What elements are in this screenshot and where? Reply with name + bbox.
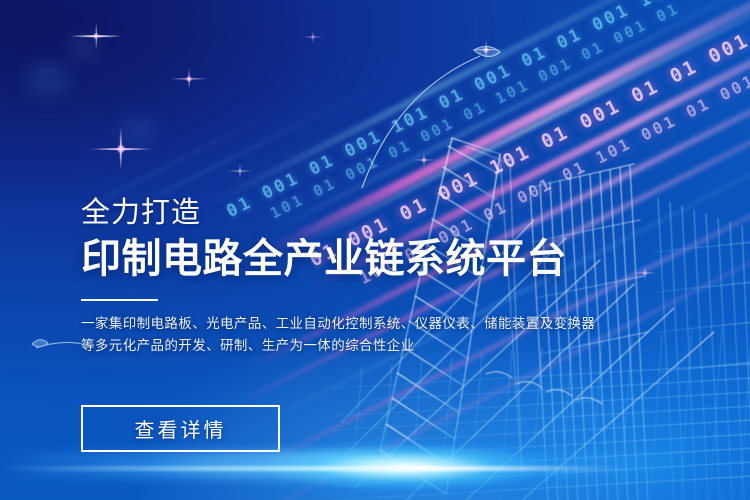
hero-eyebrow: 全力打造 — [81, 196, 601, 230]
hero-description-line-2: 等多元化产品的开发、研制、生产为一体的综合性企业 — [81, 335, 551, 357]
star-icon — [86, 114, 156, 184]
star-icon — [225, 156, 255, 186]
star-icon — [68, 8, 124, 64]
haze-blob — [68, 38, 98, 60]
star-icon — [466, 30, 506, 70]
hero-description: 一家集印制电路板、光电产品、工业自动化控制系统、仪器仪表、储能装置及变换器 等多… — [81, 313, 551, 357]
hero-description-line-1: 一家集印制电路板、光电产品、工业自动化控制系统、仪器仪表、储能装置及变换器 — [81, 313, 551, 335]
star-icon — [300, 24, 326, 50]
light-burst-line — [0, 466, 620, 471]
binary-ribbon-text: 01 001 01 001 101 01 001 01 01 001 101 0… — [223, 0, 716, 222]
hero-banner: 01 001 01 001 101 01 001 01 01 001 101 0… — [0, 0, 750, 500]
haze-blob — [24, 62, 72, 96]
hero-headline: 印制电路全产业链系统平台 — [81, 234, 601, 284]
haze-blob — [118, 116, 158, 144]
divider-line — [81, 299, 158, 301]
view-details-button[interactable]: 查看详情 — [81, 405, 280, 452]
binary-ribbon-text: 101 01 001 01 001 01 101 001 01 001 01 — [267, 0, 683, 222]
light-streak — [203, 0, 750, 210]
star-icon — [630, 258, 660, 288]
hero-text-block: 全力打造 印制电路全产业链系统平台 一家集印制电路板、光电产品、工业自动化控制系… — [81, 196, 601, 357]
star-icon — [167, 57, 211, 101]
star-icon — [410, 146, 438, 174]
